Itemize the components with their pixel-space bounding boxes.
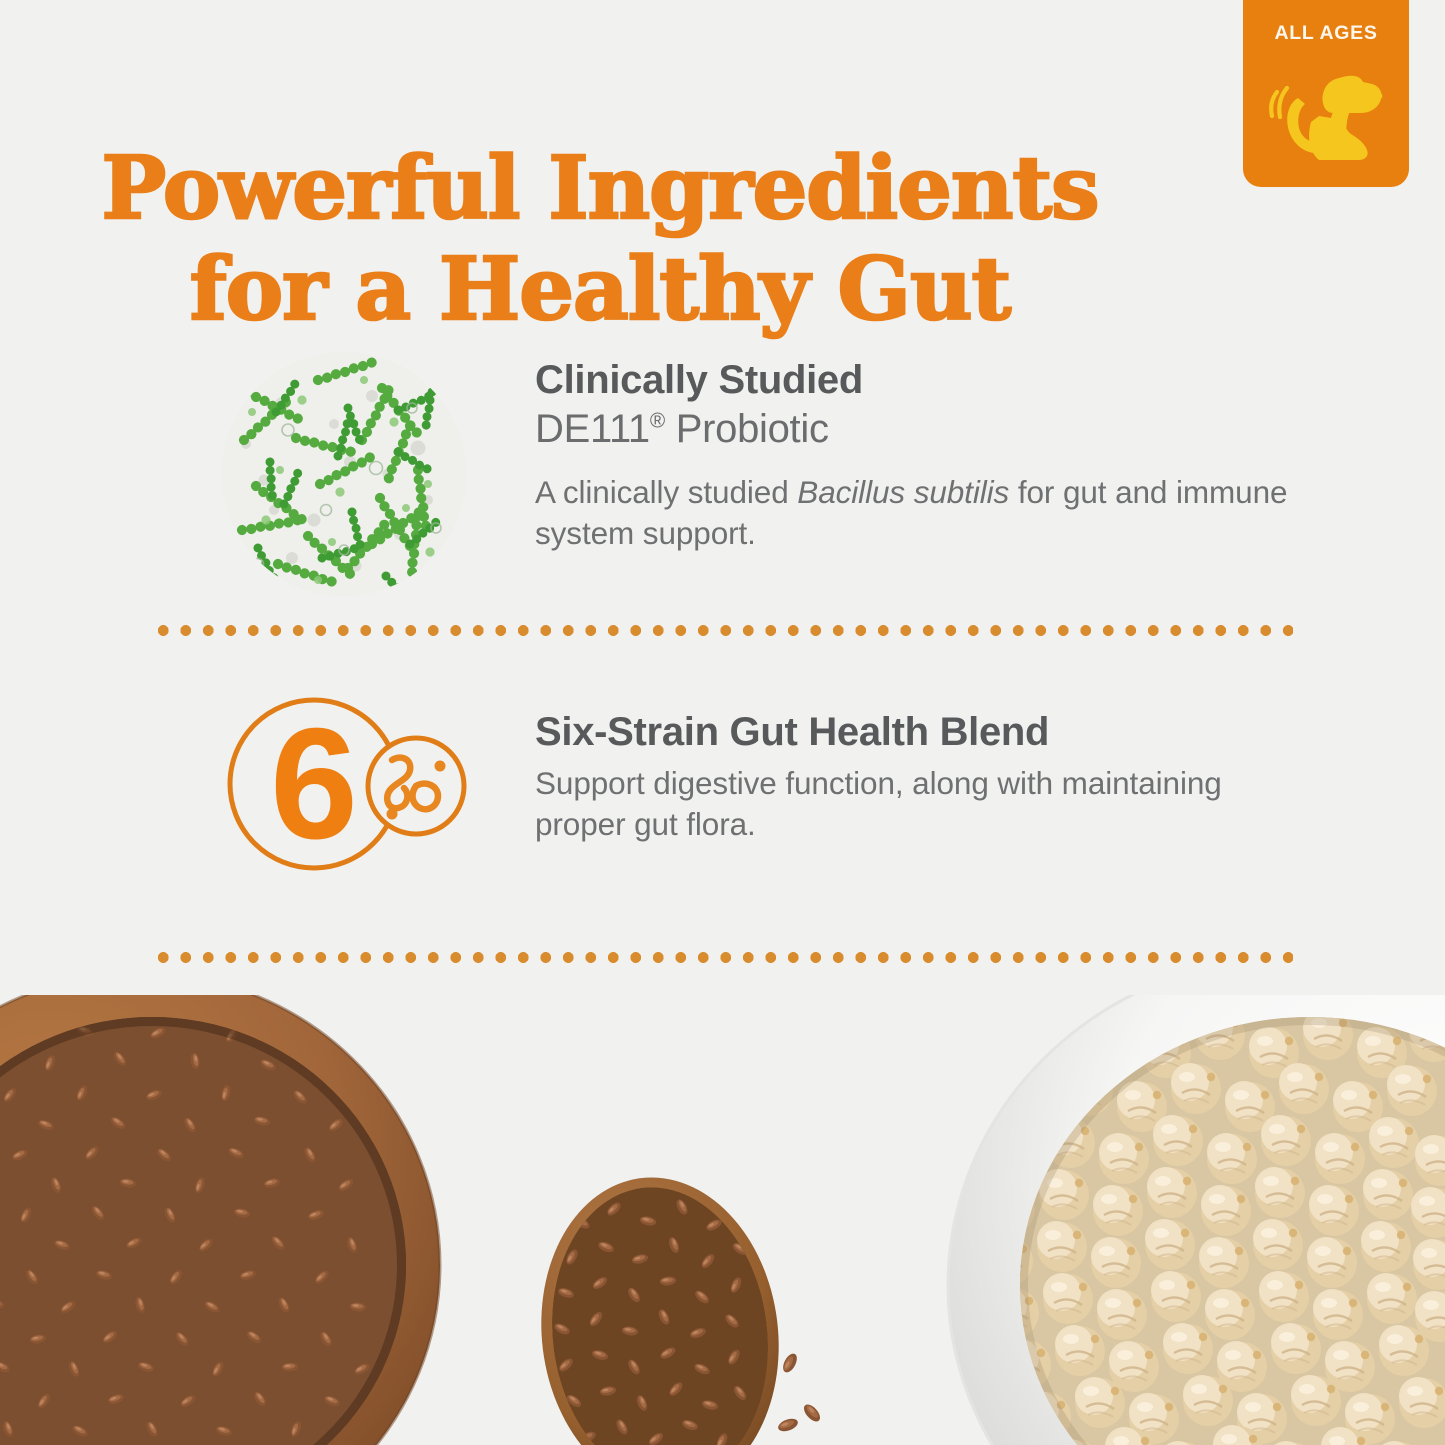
de111-text: DE111 [535, 407, 650, 451]
feature-body-probiotic: A clinically studied Bacillus subtilis f… [535, 472, 1297, 555]
feature-row-six-strain: 6 [222, 694, 1297, 874]
feature-title-clinically-studied: Clinically Studied [535, 356, 1297, 405]
ingredient-photos [0, 995, 1445, 1445]
headline-line-1: Powerful Ingredients [101, 138, 1098, 239]
dotted-divider-2 [152, 952, 1293, 963]
six-numeral: 6 [270, 696, 358, 872]
headline-line-2: for a Healthy Gut [0, 239, 1200, 340]
probiotic-text: Probiotic [665, 407, 829, 451]
species-name-italic: Bacillus subtilis [797, 474, 1009, 510]
dotted-divider-1 [152, 625, 1293, 636]
feature-body-six-strain: Support digestive function, along with m… [535, 763, 1297, 846]
page-title: Powerful Ingredients for a Healthy Gut [0, 138, 1200, 341]
feature-text-six-strain: Six-Strain Gut Health Blend Support dige… [535, 708, 1297, 846]
feature-row-probiotic: Clinically Studied DE111® Probiotic A cl… [222, 352, 1297, 596]
six-strain-blend-icon: 6 [222, 694, 466, 874]
body-part-1: A clinically studied [535, 474, 797, 510]
sitting-dog-icon [1267, 62, 1385, 175]
probiotic-microscopy-icon [222, 352, 466, 596]
registered-mark-icon: ® [650, 409, 665, 432]
feature-title-six-strain: Six-Strain Gut Health Blend [535, 708, 1297, 757]
feature-title-de111-probiotic: DE111® Probiotic [535, 405, 1297, 454]
feature-text-probiotic: Clinically Studied DE111® Probiotic A cl… [535, 356, 1297, 555]
all-ages-badge: ALL AGES [1243, 0, 1409, 187]
all-ages-label: ALL AGES [1243, 22, 1409, 45]
infographic-page: ALL AGES [0, 0, 1445, 1445]
